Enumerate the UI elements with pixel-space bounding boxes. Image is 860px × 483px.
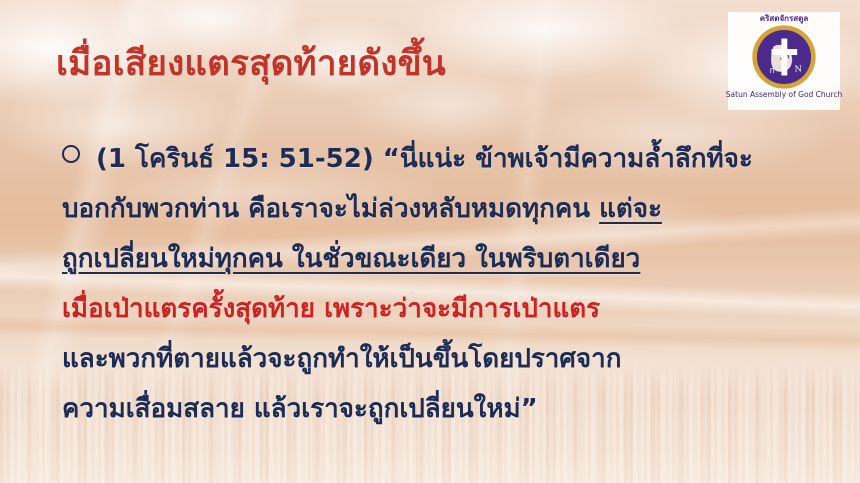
church-logo: คริสตจักรสตูล ก N Satun Assembly of God …: [728, 12, 840, 110]
verse-line-1: (1 โครินธ์ 15: 51-52) “นี่แน่ะ ข้าพเจ้าม…: [96, 134, 804, 184]
verse-text-segment: เมื่อเป่าแตรครั้งสุดท้าย เพราะว่าจะมีการ…: [62, 294, 600, 324]
verse-line-3: ถูกเปลี่ยนใหม่ทุกคน ในชั่วขณะเดียว ในพริ…: [62, 234, 804, 284]
verse-text-segment: และพวกที่ตายแล้วจะถูกทำให้เป็นขึ้นโดยปรา…: [62, 344, 621, 374]
verse-line-5: และพวกที่ตายแล้วจะถูกทำให้เป็นขึ้นโดยปรา…: [62, 334, 804, 384]
verse-text-segment: ความเสื่อมสลาย แล้วเราจะถูกเปลี่ยนใหม่”: [62, 394, 538, 424]
svg-text:ก: ก: [769, 66, 774, 76]
slide: เมื่อเสียงแตรสุดท้ายดังขึ้น (1 โครินธ์ 1…: [0, 0, 860, 483]
hollow-circle-bullet-icon: [62, 145, 80, 163]
church-cross-lion-icon: ก N: [751, 24, 817, 90]
verse-text-segment: บอกกับพวกท่าน คือเราจะไม่ล่วงหลับหมดทุกค…: [62, 194, 599, 224]
verse-row: (1 โครินธ์ 15: 51-52) “นี่แน่ะ ข้าพเจ้าม…: [62, 134, 804, 434]
verse-text-segment: ถูกเปลี่ยนใหม่ทุกคน ในชั่วขณะเดียว ในพริ…: [62, 244, 640, 274]
svg-text:N: N: [795, 65, 803, 75]
verse-line-6: ความเสื่อมสลาย แล้วเราจะถูกเปลี่ยนใหม่”: [62, 384, 804, 434]
verse-text-segment: แต่จะ: [599, 194, 662, 224]
page-title: เมื่อเสียงแตรสุดท้ายดังขึ้น: [56, 44, 446, 85]
verse-lines: (1 โครินธ์ 15: 51-52) “นี่แน่ะ ข้าพเจ้าม…: [96, 134, 804, 434]
logo-thai-name: คริสตจักรสตูล: [760, 15, 809, 23]
logo-english-name: Satun Assembly of God Church: [726, 91, 842, 99]
verse-line-2: บอกกับพวกท่าน คือเราจะไม่ล่วงหลับหมดทุกค…: [62, 184, 804, 234]
verse-line-4: เมื่อเป่าแตรครั้งสุดท้าย เพราะว่าจะมีการ…: [62, 284, 804, 334]
verse-block: (1 โครินธ์ 15: 51-52) “นี่แน่ะ ข้าพเจ้าม…: [62, 134, 804, 434]
verse-text-segment: (1 โครินธ์ 15: 51-52) “นี่แน่ะ ข้าพเจ้าม…: [96, 144, 753, 174]
